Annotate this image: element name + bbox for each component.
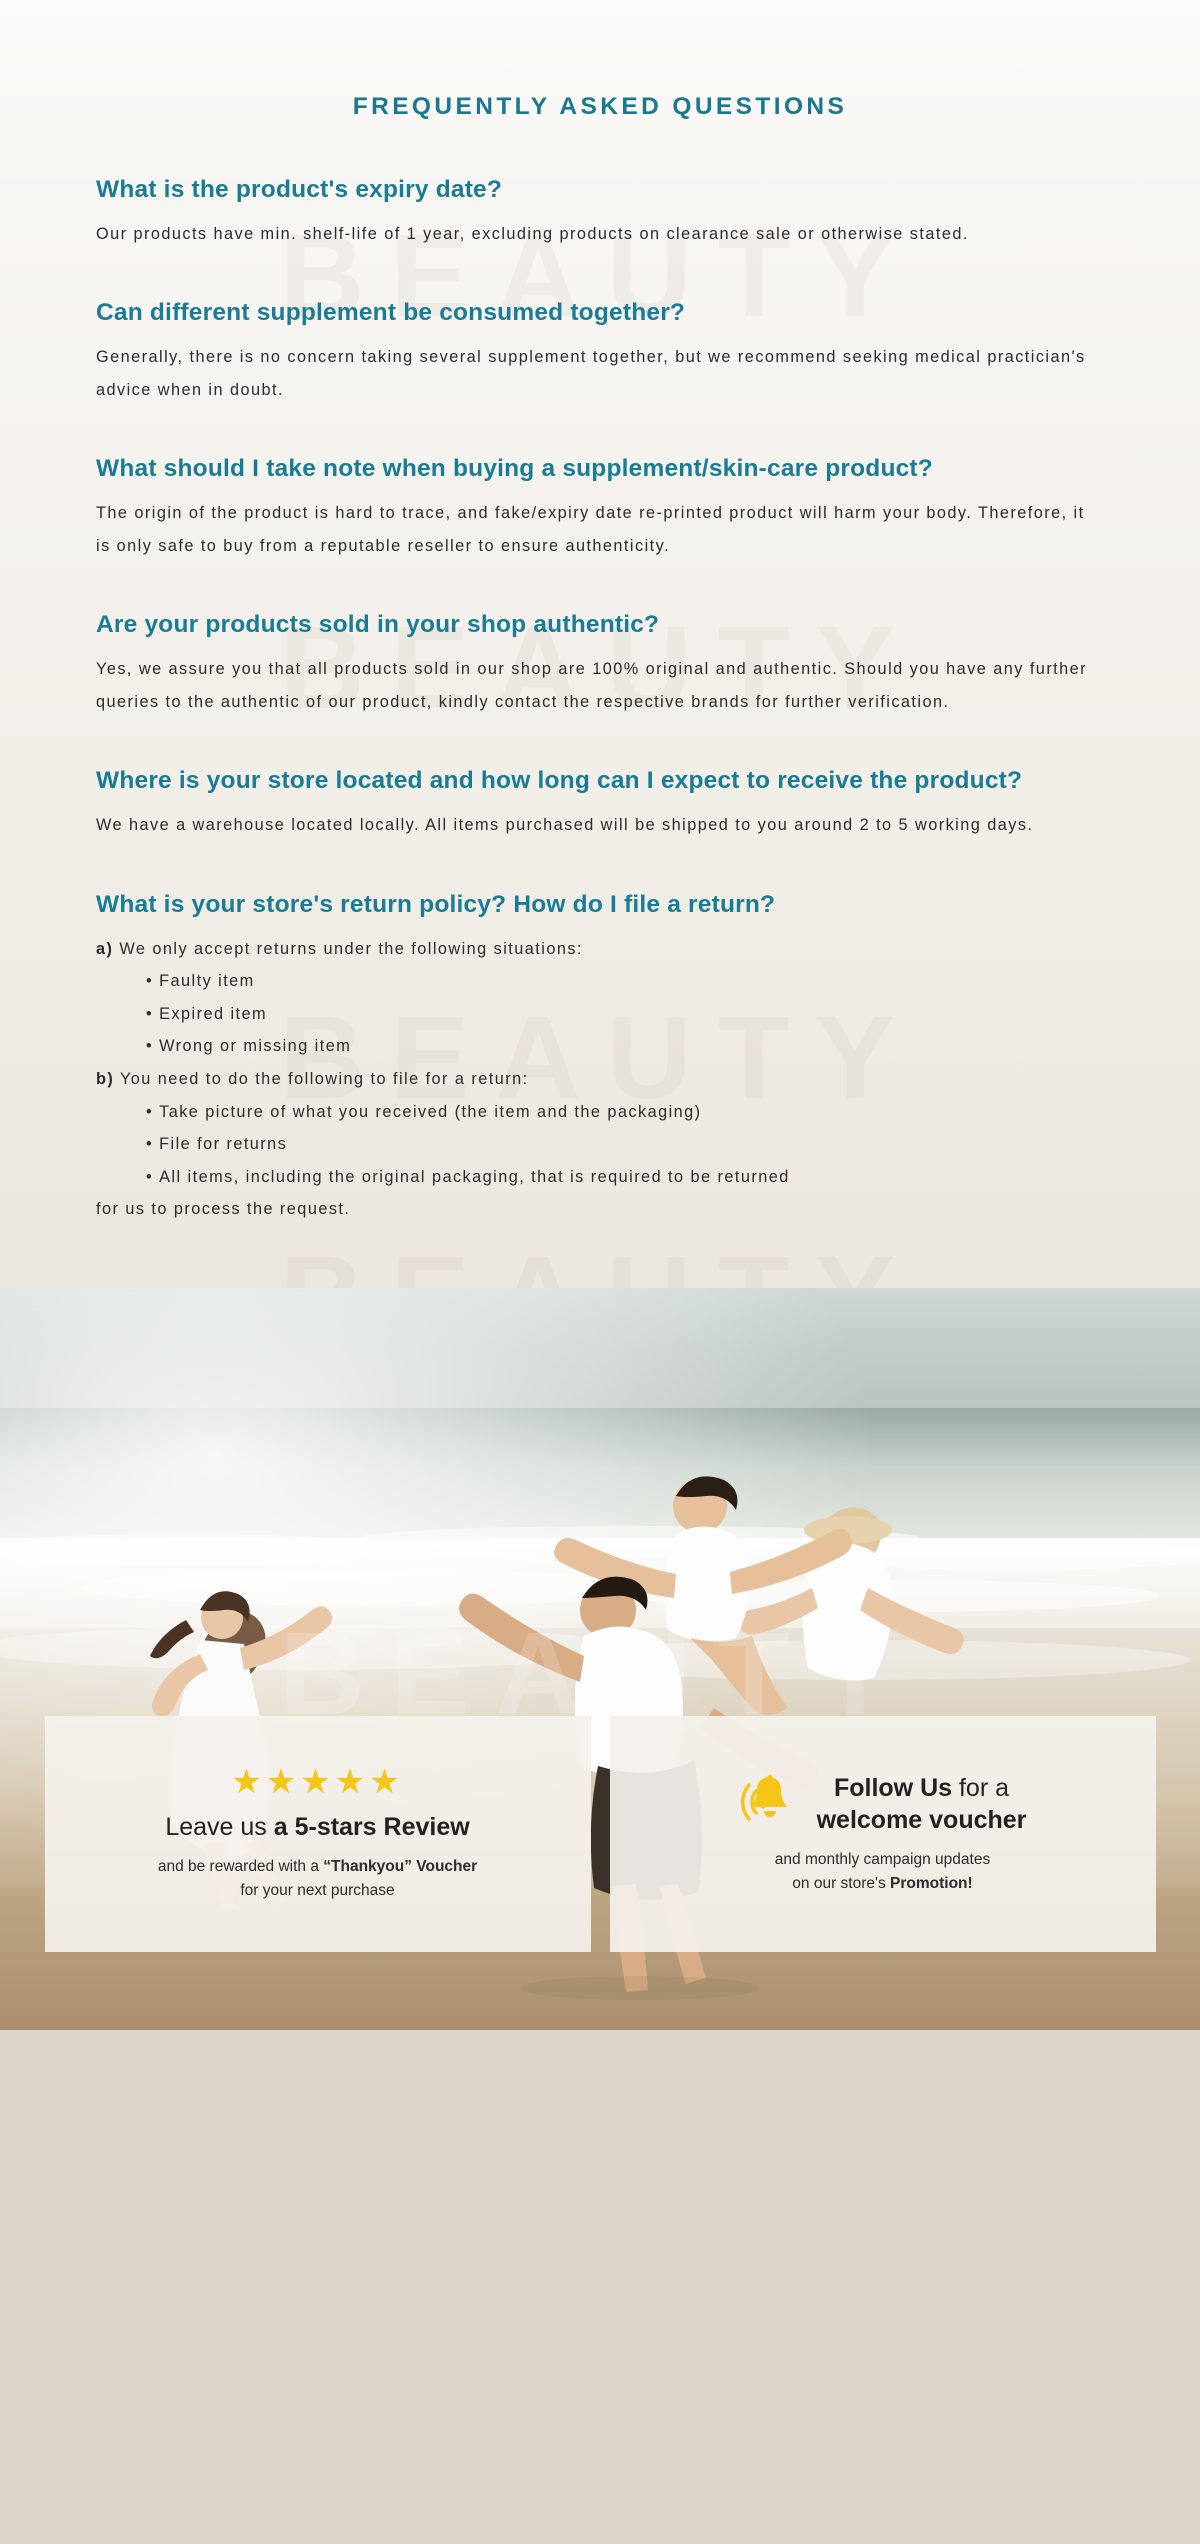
follow-card-heading: Follow Us for a welcome voucher bbox=[817, 1772, 1027, 1837]
list-item: • Faulty item bbox=[96, 965, 1104, 998]
review-head-bold: a 5-stars Review bbox=[274, 1813, 470, 1841]
follow-card[interactable]: Follow Us for a welcome voucher and mont… bbox=[610, 1716, 1156, 1952]
faq-content: FREQUENTLY ASKED QUESTIONS What is the p… bbox=[0, 0, 1200, 1226]
beach-family-photo: BEAUTY ★★★★★ Leave us a 5-stars Review a… bbox=[0, 1288, 1200, 2030]
faq-item-return-policy: What is your store's return policy? How … bbox=[96, 888, 1104, 1226]
list-lead-text: You need to do the following to file for… bbox=[120, 1070, 529, 1088]
faq-item: Are your products sold in your shop auth… bbox=[96, 608, 1104, 718]
follow-sub-line2-a: on our store's bbox=[792, 1875, 890, 1892]
follow-card-row: Follow Us for a welcome voucher bbox=[739, 1772, 1027, 1837]
faq-item: What should I take note when buying a su… bbox=[96, 452, 1104, 562]
faq-answer: Our products have min. shelf-life of 1 y… bbox=[96, 218, 1104, 251]
return-policy-group: a) We only accept returns under the foll… bbox=[96, 933, 1104, 966]
faq-question: What is the product's expiry date? bbox=[96, 173, 1104, 207]
review-card[interactable]: ★★★★★ Leave us a 5-stars Review and be r… bbox=[45, 1716, 591, 1952]
faq-answer: Generally, there is no concern taking se… bbox=[96, 341, 1104, 406]
follow-sub-line1: and monthly campaign updates bbox=[775, 1851, 990, 1868]
return-policy-group: b) You need to do the following to file … bbox=[96, 1063, 1104, 1096]
faq-question: What is your store's return policy? How … bbox=[96, 888, 1104, 922]
review-sub-voucher: “Thankyou” Voucher bbox=[323, 1858, 477, 1875]
faq-page: BEAUTY BEAUTY BEAUTY BEAUTY FREQUENTLY A… bbox=[0, 0, 1200, 2544]
list-item: • Take picture of what you received (the… bbox=[96, 1096, 1104, 1129]
list-item-label: Faulty item bbox=[159, 972, 255, 990]
follow-head-bold1: Follow Us bbox=[834, 1774, 952, 1802]
review-sub-a: and be rewarded with a bbox=[158, 1858, 323, 1875]
list-item-label: File for returns bbox=[159, 1135, 287, 1153]
faq-item: What is the product's expiry date? Our p… bbox=[96, 173, 1104, 250]
faq-list: What is the product's expiry date? Our p… bbox=[96, 173, 1104, 1226]
review-card-heading: Leave us a 5-stars Review bbox=[165, 1811, 469, 1844]
faq-item: Can different supplement be consumed tog… bbox=[96, 296, 1104, 406]
list-lead-text: We only accept returns under the followi… bbox=[119, 940, 583, 958]
list-marker: b) bbox=[96, 1070, 114, 1088]
return-policy-body: a) We only accept returns under the foll… bbox=[96, 933, 1104, 1226]
follow-card-text: Follow Us for a welcome voucher bbox=[817, 1772, 1027, 1837]
faq-question: Are your products sold in your shop auth… bbox=[96, 608, 1104, 642]
faq-answer: The origin of the product is hard to tra… bbox=[96, 497, 1104, 562]
list-item-label: Expired item bbox=[159, 1005, 267, 1023]
list-item: • Wrong or missing item bbox=[96, 1030, 1104, 1063]
review-sub-line2: for your next purchase bbox=[240, 1882, 394, 1899]
faq-answer: We have a warehouse located locally. All… bbox=[96, 809, 1104, 842]
review-card-subtext: and be rewarded with a “Thankyou” Vouche… bbox=[158, 1855, 477, 1903]
faq-item: Where is your store located and how long… bbox=[96, 764, 1104, 841]
star-rating-icon: ★★★★★ bbox=[231, 1765, 403, 1799]
follow-sub-promotion: Promotion! bbox=[890, 1875, 973, 1892]
list-item-label: Take picture of what you received (the i… bbox=[159, 1103, 701, 1121]
faq-question: What should I take note when buying a su… bbox=[96, 452, 1104, 486]
list-item-label: All items, including the original packag… bbox=[159, 1168, 790, 1186]
list-item-label: Wrong or missing item bbox=[159, 1037, 351, 1055]
faq-answer: Yes, we assure you that all products sol… bbox=[96, 653, 1104, 718]
review-head-normal: Leave us bbox=[165, 1813, 273, 1841]
faq-question: Can different supplement be consumed tog… bbox=[96, 296, 1104, 330]
list-item: • Expired item bbox=[96, 998, 1104, 1031]
follow-card-subtext: and monthly campaign updates on our stor… bbox=[775, 1848, 990, 1896]
return-policy-closing: for us to process the request. bbox=[96, 1193, 1104, 1226]
faq-question: Where is your store located and how long… bbox=[96, 764, 1104, 798]
page-title: FREQUENTLY ASKED QUESTIONS bbox=[96, 0, 1104, 121]
list-item: • File for returns bbox=[96, 1128, 1104, 1161]
bell-icon bbox=[739, 1773, 801, 1836]
promo-cards: ★★★★★ Leave us a 5-stars Review and be r… bbox=[0, 1716, 1200, 1952]
follow-head-normal: for a bbox=[952, 1774, 1009, 1802]
follow-head-bold2: welcome voucher bbox=[817, 1806, 1027, 1834]
list-item: • All items, including the original pack… bbox=[96, 1161, 1104, 1194]
list-marker: a) bbox=[96, 940, 113, 958]
